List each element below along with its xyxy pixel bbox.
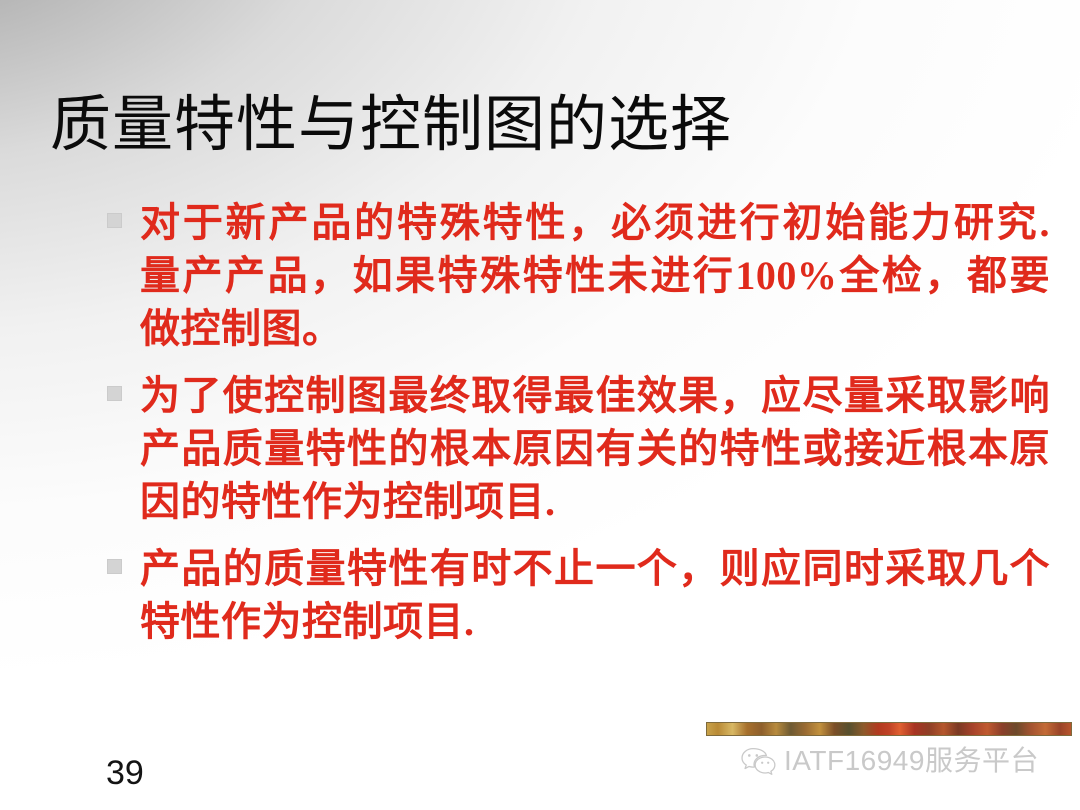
watermark-text: IATF16949服务平台 xyxy=(784,747,1039,775)
watermark-label: IATF16949服务平台 xyxy=(706,746,1072,776)
square-bullet-icon xyxy=(107,386,122,401)
list-item: 为了使控制图最终取得最佳效果，应尽量采取影响产品质量特性的根本原因有关的特性或接… xyxy=(104,369,1050,528)
list-item-text: 对于新产品的特殊特性，必须进行初始能力研究. 量产产品，如果特殊特性未进行100… xyxy=(140,196,1050,355)
watermark: IATF16949服务平台 xyxy=(706,722,1072,776)
list-item-text: 为了使控制图最终取得最佳效果，应尽量采取影响产品质量特性的根本原因有关的特性或接… xyxy=(140,369,1050,528)
bullet-list: 对于新产品的特殊特性，必须进行初始能力研究. 量产产品，如果特殊特性未进行100… xyxy=(104,196,1050,648)
wechat-icon xyxy=(740,746,776,776)
square-bullet-icon xyxy=(107,559,122,574)
list-item-text: 产品的质量特性有时不止一个，则应同时采取几个特性作为控制项目. xyxy=(140,542,1050,648)
slide-canvas: 质量特性与控制图的选择 对于新产品的特殊特性，必须进行初始能力研究. 量产产品，… xyxy=(0,0,1080,810)
list-item: 产品的质量特性有时不止一个，则应同时采取几个特性作为控制项目. xyxy=(104,542,1050,648)
page-title: 质量特性与控制图的选择 xyxy=(50,93,732,159)
square-bullet-icon xyxy=(107,213,122,228)
list-item: 对于新产品的特殊特性，必须进行初始能力研究. 量产产品，如果特殊特性未进行100… xyxy=(104,196,1050,355)
page-number: 39 xyxy=(106,756,144,790)
decorative-color-strip xyxy=(706,722,1072,736)
